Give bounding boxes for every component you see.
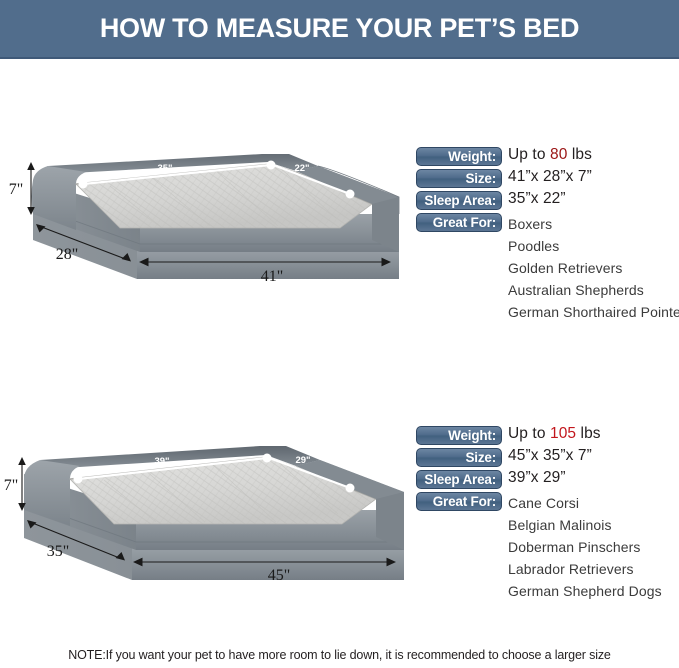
bed-depth-label-2: 35": [47, 543, 70, 560]
spec-value-sleep-area: 35”x 22”: [508, 190, 566, 208]
spec-label-sleep-area: Sleep Area:: [416, 191, 502, 210]
spec-row-great-for: Great For: Boxers Poodles Golden Retriev…: [416, 213, 679, 235]
pet-bed-45x35x7-diagram: 39" 29" 7" 35" 45": [0, 422, 412, 602]
weight-prefix: Up to: [508, 146, 550, 163]
spec-row-great-for: Great For: Cane Corsi Belgian Malinois D…: [416, 492, 679, 514]
spec-row-size: Size: 45”x 35”x 7”: [416, 448, 679, 470]
sleep-width-label-1: 22": [294, 163, 309, 174]
list-item: Belgian Malinois: [508, 514, 662, 536]
sleep-width-label-2: 29": [295, 455, 310, 466]
list-item: Poodles: [508, 235, 679, 257]
spec-value-size: 41”x 28”x 7”: [508, 168, 592, 186]
spec-value-weight: Up to 80 lbs: [508, 146, 592, 164]
spec-row-weight: Weight: Up to 105 lbs: [416, 426, 679, 448]
weight-prefix: Up to: [508, 425, 550, 442]
spec-value-sleep-area: 39”x 29”: [508, 469, 566, 487]
list-item: Labrador Retrievers: [508, 558, 662, 580]
list-item: Golden Retrievers: [508, 257, 679, 279]
spec-label-weight: Weight:: [416, 426, 502, 445]
breed-list-xlarge-bed: Cane Corsi Belgian Malinois Doberman Pin…: [508, 492, 662, 602]
spec-label-size: Size:: [416, 448, 502, 467]
spec-value-weight: Up to 105 lbs: [508, 425, 601, 443]
sleep-length-label-1: 35": [157, 163, 172, 174]
list-item: German Shepherd Dogs: [508, 580, 662, 602]
spec-row-sleep-area: Sleep Area: 35”x 22”: [416, 191, 679, 213]
weight-suffix: lbs: [567, 146, 592, 163]
spec-row-sleep-area: Sleep Area: 39”x 29”: [416, 470, 679, 492]
list-item: Doberman Pinschers: [508, 536, 662, 558]
spec-label-great-for: Great For:: [416, 213, 502, 232]
weight-suffix: lbs: [576, 425, 601, 442]
bed-height-label-1: 7": [9, 181, 24, 198]
page-header-bar: HOW TO MEASURE YOUR PET’S BED: [0, 0, 679, 59]
spec-label-great-for: Great For:: [416, 492, 502, 511]
breed-list-large-bed: Boxers Poodles Golden Retrievers Austral…: [508, 213, 679, 323]
bed-height-label-2: 7": [4, 477, 19, 494]
list-item: Boxers: [508, 213, 679, 235]
list-item: German Shorthaired Pointers: [508, 301, 679, 323]
spec-label-weight: Weight:: [416, 147, 502, 166]
bed-depth-label-1: 28": [56, 246, 79, 263]
spec-row-size: Size: 41”x 28”x 7”: [416, 169, 679, 191]
page-title: HOW TO MEASURE YOUR PET’S BED: [0, 0, 679, 57]
bed-width-label-1: 41": [261, 268, 284, 285]
spec-panel-xlarge-bed: Weight: Up to 105 lbs Size: 45”x 35”x 7”…: [416, 426, 679, 514]
list-item: Cane Corsi: [508, 492, 662, 514]
list-item: Australian Shepherds: [508, 279, 679, 301]
weight-number: 80: [550, 146, 567, 163]
spec-label-sleep-area: Sleep Area:: [416, 470, 502, 489]
spec-panel-large-bed: Weight: Up to 80 lbs Size: 41”x 28”x 7” …: [416, 147, 679, 235]
spec-value-size: 45”x 35”x 7”: [508, 447, 592, 465]
weight-number: 105: [550, 425, 576, 442]
sleep-length-label-2: 39": [154, 456, 169, 467]
bed-width-label-2: 45": [268, 567, 291, 584]
footer-note: NOTE:If you want your pet to have more r…: [0, 648, 679, 662]
pet-bed-41x28x7-diagram: 35" 22": [0, 140, 412, 315]
spec-label-size: Size:: [416, 169, 502, 188]
spec-row-weight: Weight: Up to 80 lbs: [416, 147, 679, 169]
